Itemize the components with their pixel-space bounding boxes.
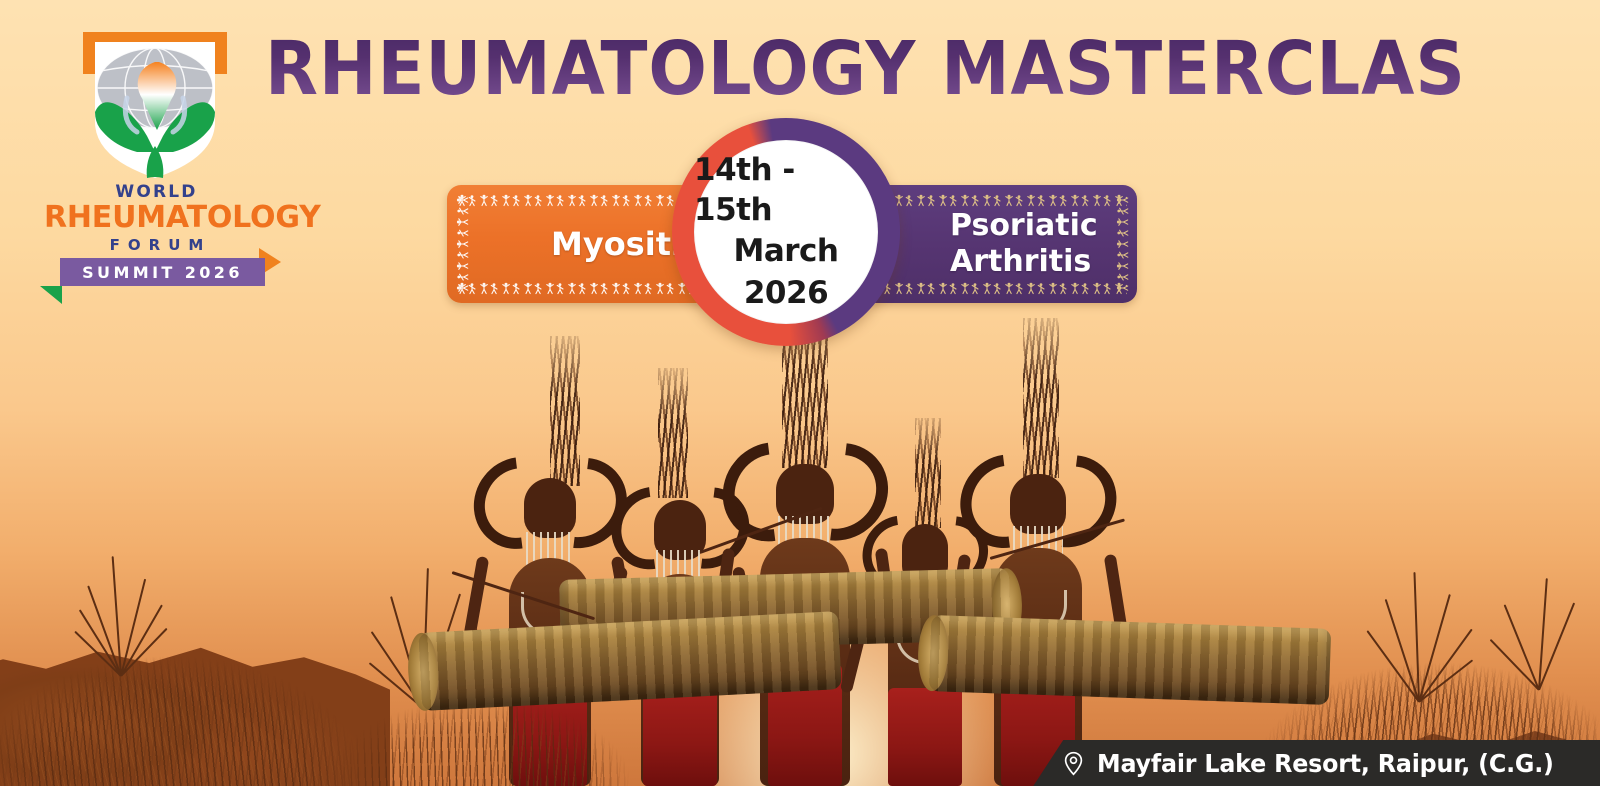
topic-banner-psoriatic-arthritis[interactable]: Psoriatic Arthritis bbox=[862, 185, 1137, 303]
dancer-head bbox=[1010, 474, 1066, 534]
topic-label-psoriatic-arthritis: Psoriatic Arthritis bbox=[882, 208, 1137, 280]
ribbon-label: SUMMIT 2026 bbox=[82, 263, 243, 282]
ribbon-tail-green bbox=[40, 286, 62, 304]
event-logo[interactable]: WORLD RHEUMATOLOGY FORUM SUMMIT 2026 bbox=[44, 22, 269, 262]
logo-ribbon: SUMMIT 2026 bbox=[44, 258, 269, 288]
warli-row bbox=[872, 193, 1127, 207]
topic-label-line-1: Psoriatic bbox=[950, 208, 1137, 244]
topic-label-line-2: Arthritis bbox=[950, 244, 1137, 280]
ribbon-body: SUMMIT 2026 bbox=[60, 258, 265, 286]
shrub-right bbox=[1360, 562, 1480, 702]
dancer-plume bbox=[915, 418, 941, 528]
date-year: 2026 bbox=[744, 272, 828, 314]
venue-text: Mayfair Lake Resort, Raipur, (C.G.) bbox=[1097, 749, 1554, 778]
page-title: RHEUMATOLOGY MASTERCLASSES bbox=[265, 30, 1465, 108]
date-badge-inner: 14th - 15th March 2026 bbox=[694, 140, 878, 324]
logo-line-rheumatology: RHEUMATOLOGY bbox=[44, 202, 269, 234]
date-month: March bbox=[733, 230, 838, 272]
warli-row bbox=[872, 281, 1127, 295]
logo-line-forum: FORUM bbox=[44, 236, 269, 254]
venue-bar: Mayfair Lake Resort, Raipur, (C.G.) bbox=[1033, 740, 1600, 786]
dancer-5 bbox=[940, 336, 1135, 786]
dancer-head bbox=[524, 478, 576, 538]
shrub-left bbox=[70, 546, 180, 676]
logo-line-world: WORLD bbox=[44, 182, 269, 202]
drum-right bbox=[929, 615, 1331, 705]
dancer-plume bbox=[658, 368, 688, 498]
logo-shield-icon bbox=[75, 26, 235, 186]
date-days: 14th - 15th bbox=[694, 150, 878, 230]
location-pin-icon bbox=[1063, 751, 1084, 776]
shrub-far-right bbox=[1490, 570, 1590, 690]
date-badge: 14th - 15th March 2026 bbox=[672, 118, 900, 346]
logo-wordmark: WORLD RHEUMATOLOGY FORUM SUMMIT 2026 bbox=[44, 182, 269, 288]
promotional-banner: WORLD RHEUMATOLOGY FORUM SUMMIT 2026 RHE… bbox=[0, 0, 1600, 786]
